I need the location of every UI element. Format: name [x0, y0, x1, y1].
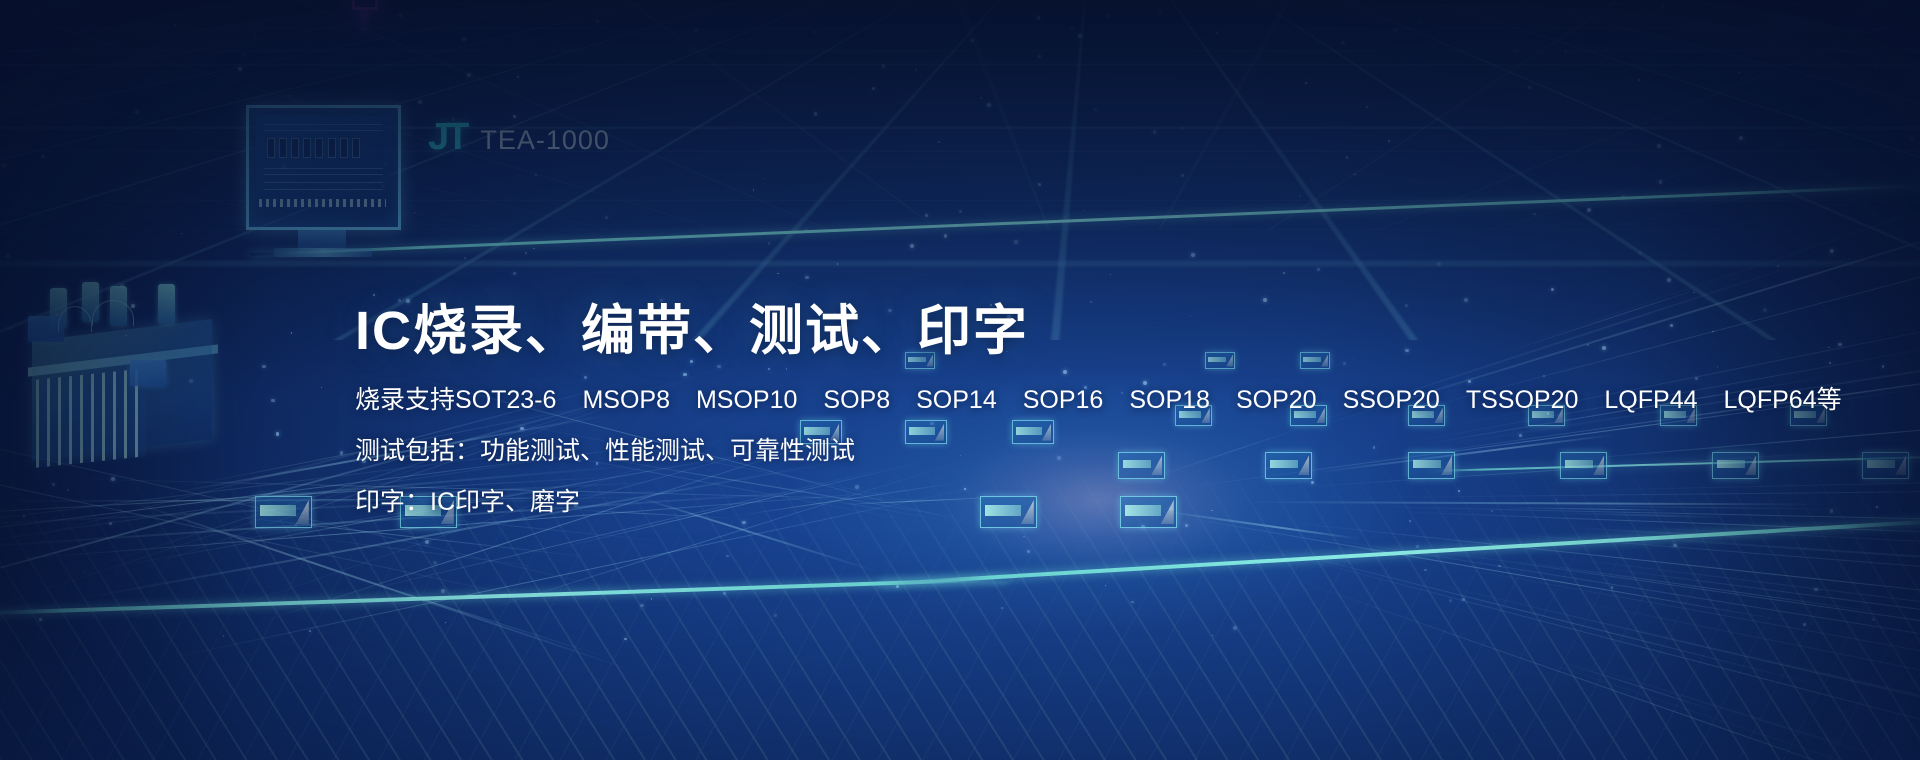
workstation-monitor: [246, 105, 401, 230]
particle-dot: [1805, 145, 1807, 147]
particle-dot: [181, 233, 183, 235]
particle-dot: [1342, 41, 1345, 44]
particle-dot: [238, 67, 242, 71]
particle-dot: [915, 69, 917, 71]
particle-dot: [1661, 4, 1664, 7]
particle-dot: [1602, 346, 1606, 350]
particle-dot: [1830, 249, 1833, 252]
particle-dot: [1038, 183, 1041, 186]
particle-dot: [525, 252, 527, 254]
particle-dot: [882, 64, 885, 67]
particle-dot: [242, 53, 245, 56]
particle-dot: [262, 365, 266, 369]
particle-dot: [784, 157, 785, 158]
particle-dot: [1181, 127, 1183, 129]
package-label: MSOP10: [696, 388, 797, 413]
equipment-brand-label: JT TEA-1000: [428, 118, 610, 156]
particle-dot: [1159, 11, 1162, 14]
particle-dot: [1667, 278, 1671, 282]
banner-content: IC烧录、编带、测试、印字 烧录支持SOT23-6MSOP8MSOP10SOP8…: [355, 300, 1595, 541]
particle-dot: [605, 216, 609, 220]
particle-dot: [980, 97, 982, 99]
particle-dot: [577, 85, 578, 86]
particle-dot: [182, 48, 184, 50]
particle-dot: [1712, 331, 1713, 332]
particle-dot: [1670, 324, 1673, 327]
rail-upper: [250, 183, 1920, 256]
particle-dot: [1420, 21, 1422, 23]
particle-dot: [1763, 308, 1767, 312]
particle-dot: [1838, 343, 1841, 346]
particle-dot: [1832, 250, 1834, 252]
particle-dot: [1191, 253, 1195, 257]
particle-dot: [1071, 28, 1073, 30]
package-label: SOP20: [1236, 388, 1317, 413]
particle-dot: [944, 234, 948, 238]
package-label: SSOP20: [1343, 388, 1440, 413]
particle-dot: [987, 103, 991, 107]
particle-dot: [289, 95, 291, 97]
particle-dot: [1366, 106, 1368, 108]
particle-dot: [321, 387, 322, 388]
package-label: SOP14: [916, 388, 997, 413]
particle-dot: [764, 178, 766, 180]
particle-dot: [1354, 174, 1355, 175]
particle-dot: [6, 254, 10, 258]
particle-dot: [971, 39, 974, 42]
particle-dot: [464, 257, 466, 259]
particle-dot: [837, 263, 839, 265]
particle-dot: [1181, 174, 1184, 177]
magenta-beam: [360, 8, 369, 38]
jt-logo-icon: JT: [428, 118, 466, 156]
particle-dot: [1106, 14, 1110, 18]
package-label: SOP16: [1023, 388, 1104, 413]
particle-dot: [814, 31, 816, 33]
particle-dot: [805, 276, 809, 280]
particle-dot: [1038, 55, 1041, 58]
particle-dot: [533, 248, 535, 250]
particle-dot: [1717, 366, 1719, 368]
package-label: SOT23-6: [455, 388, 556, 413]
particle-dot: [8, 8, 12, 12]
burn-support-line: 烧录支持SOT23-6MSOP8MSOP10SOP8SOP14SOP16SOP1…: [355, 388, 1595, 413]
particle-dot: [1014, 240, 1018, 244]
particle-dot: [1829, 362, 1832, 365]
machinery-silhouette: [10, 278, 230, 468]
particle-dot: [768, 242, 770, 244]
equipment-model-text: TEA-1000: [480, 127, 610, 156]
particle-dot: [1901, 118, 1903, 120]
particle-dot: [777, 273, 778, 274]
package-label: LQFP44: [1604, 388, 1697, 413]
package-list: SOT23-6MSOP8MSOP10SOP8SOP14SOP16SOP18SOP…: [455, 386, 1842, 414]
particle-dot: [938, 141, 940, 143]
magenta-marker-icon: [352, 0, 378, 10]
particle-dot: [1388, 293, 1389, 294]
particle-dot: [1153, 130, 1157, 134]
particle-dot: [1317, 268, 1320, 271]
banner-subtitle-list: 烧录支持SOT23-6MSOP8MSOP10SOP8SOP14SOP16SOP1…: [355, 388, 1595, 515]
particle-dot: [1587, 208, 1591, 212]
particle-dot: [335, 44, 337, 46]
particle-dot: [2, 164, 6, 168]
banner-title: IC烧录、编带、测试、印字: [355, 300, 1595, 364]
particle-dot: [1328, 77, 1329, 78]
particle-dot: [255, 23, 258, 26]
particle-dot: [1517, 23, 1519, 25]
particle-dot: [1882, 365, 1884, 367]
particle-dot: [462, 38, 466, 42]
particle-dot: [415, 212, 417, 214]
particle-dot: [1305, 82, 1308, 85]
particle-dot: [1695, 377, 1698, 380]
particle-dot: [1551, 288, 1554, 291]
particle-dot: [1565, 51, 1567, 53]
particle-dot: [1078, 34, 1082, 38]
particle-dot: [1394, 29, 1397, 32]
package-label: SOP8: [823, 388, 890, 413]
particle-dot: [276, 432, 280, 436]
particle-dot: [910, 244, 914, 248]
particle-dot: [445, 61, 448, 64]
particle-dot: [695, 29, 697, 31]
particle-dot: [872, 87, 875, 90]
particle-dot: [271, 399, 274, 402]
particle-dot: [53, 217, 54, 218]
particle-dot: [1437, 262, 1441, 266]
particle-dot: [1462, 7, 1464, 9]
package-label: MSOP8: [582, 388, 670, 413]
package-label: TSSOP20: [1466, 388, 1579, 413]
particle-dot: [753, 189, 755, 191]
particle-dot: [1738, 72, 1740, 74]
particle-dot: [418, 100, 422, 104]
particle-dot: [399, 14, 402, 17]
particle-dot: [48, 216, 49, 217]
particle-dot: [1659, 180, 1662, 183]
light-streak: [1606, 409, 1920, 457]
particle-dot: [1693, 292, 1695, 294]
particle-dot: [517, 76, 519, 78]
particle-dot: [1388, 140, 1390, 142]
particle-dot: [1777, 265, 1779, 267]
particle-dot: [1216, 32, 1218, 34]
burn-support-prefix: 烧录支持: [355, 386, 455, 414]
particle-dot: [1346, 156, 1349, 159]
package-label: SOP18: [1129, 388, 1210, 413]
particle-dot: [1516, 51, 1518, 53]
particle-dot: [1638, 79, 1640, 81]
particle-dot: [291, 332, 293, 334]
particle-dot: [373, 294, 375, 296]
particle-dot: [467, 73, 471, 77]
particle-dot: [1110, 274, 1111, 275]
particle-dot: [340, 451, 343, 454]
hero-banner: JT TEA-1000 IC烧录、编带、测试、印字 烧录支持SOT23-6MSO…: [0, 0, 1920, 760]
particle-dot: [1910, 137, 1914, 141]
package-label: LQFP64等: [1724, 388, 1842, 413]
particle-dot: [1037, 16, 1041, 20]
particle-dot: [596, 20, 599, 23]
particle-dot: [925, 214, 927, 216]
particle-dot: [513, 272, 516, 275]
particle-dot: [1528, 86, 1531, 89]
test-scope-line: 测试包括：功能测试、性能测试、可靠性测试: [355, 439, 1595, 464]
particle-dot: [1774, 45, 1776, 47]
particle-dot: [1299, 195, 1302, 198]
particle-dot: [174, 24, 176, 26]
particle-dot: [959, 210, 962, 213]
particle-dot: [1657, 144, 1661, 148]
particle-dot: [41, 155, 44, 158]
particle-dot: [1828, 347, 1830, 349]
particle-dot: [1094, 108, 1097, 111]
particle-dot: [1283, 272, 1285, 274]
marking-line: 印字：IC印字、磨字: [355, 490, 1595, 515]
particle-dot: [814, 112, 818, 116]
particle-dot: [1639, 252, 1642, 255]
particle-dot: [1829, 185, 1830, 186]
particle-dot: [1533, 213, 1535, 215]
particle-dot: [254, 33, 256, 35]
particle-dot: [1739, 136, 1743, 140]
particle-dot: [535, 174, 537, 176]
particle-dot: [135, 110, 139, 114]
particle-dot: [1084, 210, 1085, 211]
particle-dot: [1874, 63, 1878, 67]
